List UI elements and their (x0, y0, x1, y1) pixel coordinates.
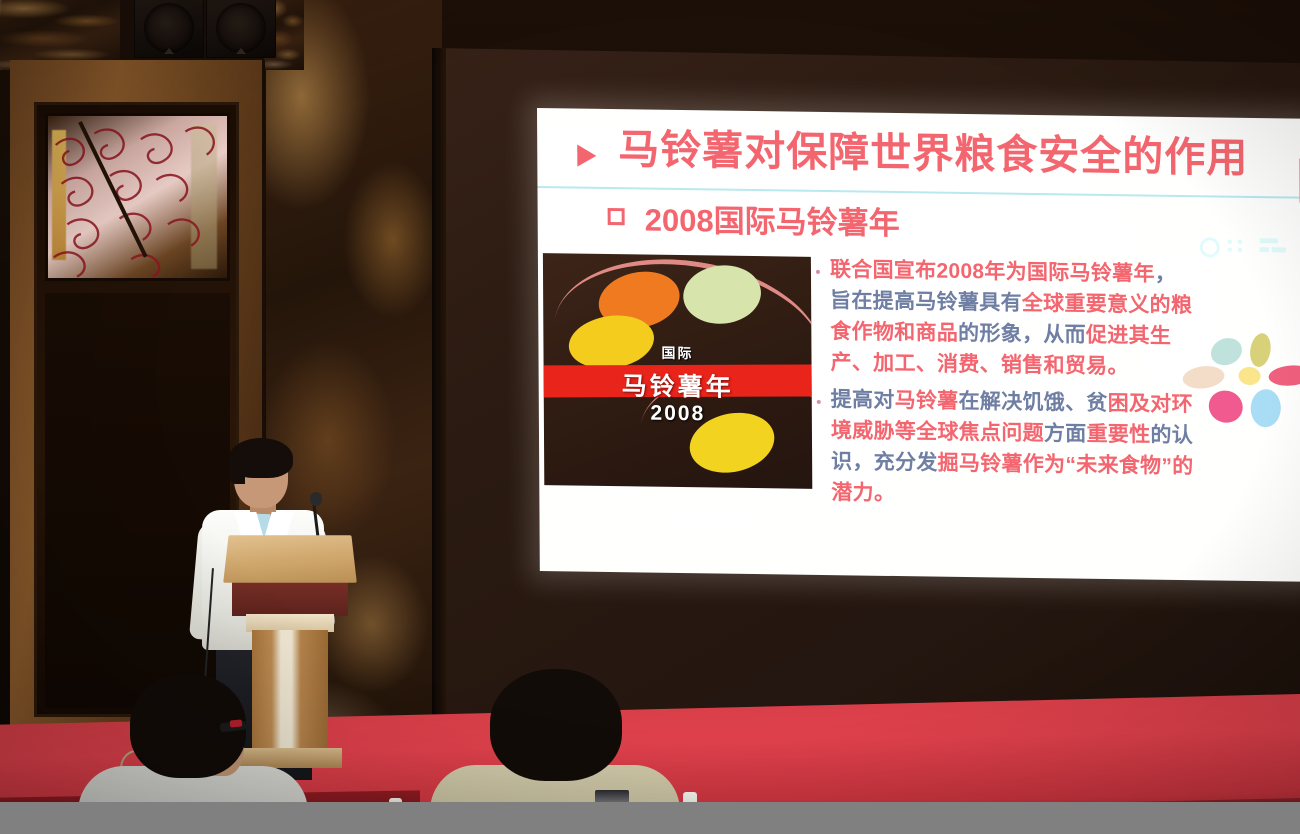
seg: 掘马铃薯作为“未来食物”的 (938, 452, 1194, 479)
door-glass-panel (45, 113, 230, 281)
seg: 方面 (1044, 422, 1087, 446)
seg: 潜力。 (831, 481, 895, 505)
seg: 在解决饥饿、贫 (958, 390, 1107, 415)
slide-title-row: 马铃薯对保障世界粮食安全的作用 (577, 115, 1300, 185)
logo-line-big: 马铃薯年 (544, 365, 812, 405)
seg: 马铃薯 (895, 389, 959, 413)
seg: 提高对 (831, 388, 895, 412)
ceiling-speaker-left (134, 0, 204, 58)
slide-subtitle-row: 2008国际马铃薯年 (608, 194, 900, 243)
list-item: 联合国宣布2008年为国际马铃薯年，旨在提高马铃薯具有全球重要意义的粮食作物和商… (816, 254, 1197, 383)
iyp-logo-block: 国际 马铃薯年 2008 被埋没的宝物 (543, 253, 812, 489)
slide-watermark-flower (1198, 332, 1300, 454)
slide-title: 马铃薯对保障世界粮食安全的作用 (618, 115, 1248, 184)
dot-bullet-icon (816, 270, 820, 274)
scroll-ornament-icon (48, 116, 227, 279)
slide-watermark-logo (1198, 235, 1298, 262)
podium-desktop (223, 535, 357, 583)
screen-surround-edge (432, 48, 446, 748)
iyp-logo-art: 国际 马铃薯年 2008 (543, 253, 812, 489)
square-outline-bullet-icon (608, 208, 625, 225)
seg: 重要性 (1086, 423, 1150, 447)
gooseneck-microphone-icon (310, 492, 322, 506)
seg: 加工、消费、销售和贸易。 (873, 352, 1129, 379)
bottom-letterbox-bar (0, 802, 1300, 834)
list-item: 提高对马铃薯在解决饥饿、贫困及对环境威胁等全球焦点问题方面重要性的认识，充分发掘… (817, 384, 1198, 513)
glasses-temple-icon (230, 719, 243, 727)
logo-year: 2008 (544, 400, 812, 428)
slide-bullet-list: 联合国宣布2008年为国际马铃薯年，旨在提高马铃薯具有全球重要意义的粮食作物和商… (816, 254, 1198, 519)
speaker-logo-icon (236, 48, 246, 54)
seg: 题 (1023, 422, 1044, 445)
projected-slide: 马铃薯对保障世界粮食安全的作用 2008国际马铃薯年 国际 马铃薯年 2008 (537, 108, 1300, 582)
conference-photo-scene: 马铃薯对保障世界粮食安全的作用 2008国际马铃薯年 国际 马铃薯年 2008 (0, 0, 1300, 834)
seg: 铃薯年 (1091, 262, 1155, 286)
triangle-arrow-bullet-icon (577, 145, 596, 167)
slide-subtitle: 2008国际马铃薯年 (645, 195, 900, 244)
dot-bullet-icon (817, 400, 821, 404)
seg: 联合国宣布2008年为国际马 (830, 258, 1091, 285)
speaker-cone-icon (144, 3, 194, 53)
presenter-hair-side (229, 454, 245, 484)
bullet-text-2: 提高对马铃薯在解决饥饿、贫困及对环境威胁等全球焦点问题方面重要性的认识，充分发掘… (831, 384, 1198, 513)
logo-line-small: 国际 (543, 341, 811, 365)
seg: 品 (937, 322, 958, 345)
audience-head (490, 669, 622, 781)
speaker-cone-icon (216, 3, 266, 53)
seg: 的形象，从而 (958, 322, 1086, 347)
bullet-text-1: 联合国宣布2008年为国际马铃薯年，旨在提高马铃薯具有全球重要意义的粮食作物和商… (830, 254, 1197, 383)
speaker-logo-icon (164, 48, 174, 54)
ceiling-speaker-right (206, 0, 276, 58)
